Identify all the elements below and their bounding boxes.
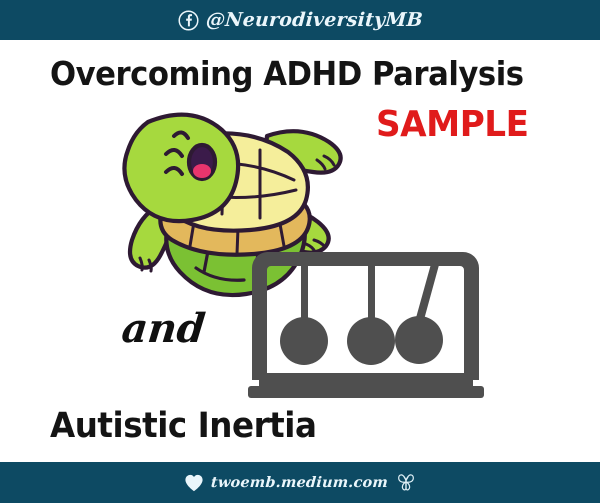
page-title: Overcoming ADHD Paralysis: [50, 54, 524, 93]
butterfly-icon: [395, 472, 417, 494]
heart-icon: [184, 474, 204, 492]
facebook-handle: @NeurodiversityMB: [205, 9, 423, 31]
connector-and: and: [120, 305, 208, 352]
sample-watermark: SAMPLE: [376, 104, 529, 145]
newtons-cradle-illustration: [245, 228, 490, 400]
facebook-icon: [178, 10, 199, 31]
page-subtitle: Autistic Inertia: [50, 406, 316, 446]
bottom-banner: twoemb.medium.com: [0, 462, 600, 503]
poster-canvas: @NeurodiversityMB: [0, 0, 600, 503]
website-url: twoemb.medium.com: [210, 474, 388, 491]
top-banner: @NeurodiversityMB: [0, 0, 600, 40]
